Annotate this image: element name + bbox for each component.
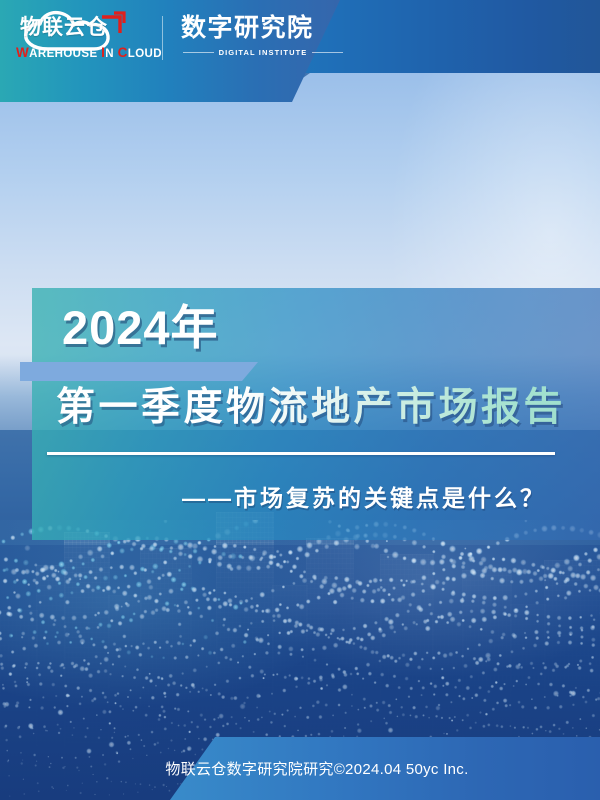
report-title: 第一季度物流地产市场报告 — [56, 384, 566, 432]
logo-brand-en: WAREHOUSE IN CLOUD — [16, 45, 162, 60]
footer-copyright: 物联云仓数字研究院研究©2024.04 50yc Inc. — [0, 737, 600, 800]
institute-name-en: DIGITAL INSTITUTE — [219, 48, 308, 57]
digital-institute-logo[interactable]: 数字研究院 DIGITAL INSTITUTE — [181, 10, 345, 66]
institute-name-cn: 数字研究院 — [181, 12, 314, 44]
report-cover-poster: 物联云仓 WAREHOUSE IN CLOUD 数字研究院 DIGITAL IN… — [0, 0, 600, 800]
accent-bar — [20, 362, 258, 381]
institute-rule-right — [312, 52, 343, 53]
logo-divider — [162, 16, 163, 60]
institute-name-en-row: DIGITAL INSTITUTE — [183, 48, 343, 57]
title-divider — [47, 452, 555, 455]
logo-brand-cn: 物联云仓 — [20, 15, 108, 41]
report-subtitle: ——市场复苏的关键点是什么？ — [56, 482, 546, 514]
institute-rule-left — [183, 52, 214, 53]
report-year: 2024年 — [62, 300, 219, 356]
warehouse-in-cloud-logo[interactable]: 物联云仓 WAREHOUSE IN CLOUD — [14, 9, 144, 67]
brand-logo-group[interactable]: 物联云仓 WAREHOUSE IN CLOUD 数字研究院 DIGITAL IN… — [14, 8, 345, 68]
